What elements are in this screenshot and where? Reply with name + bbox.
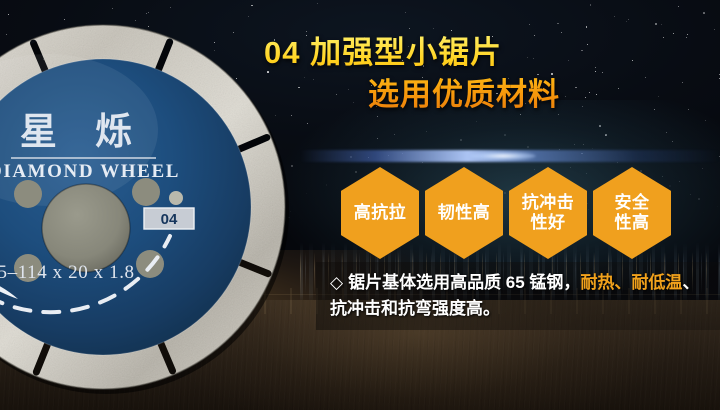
star [703,12,705,14]
headline-line-1: 04 加强型小锯片 [250,32,670,74]
star [682,82,683,83]
star [409,28,410,29]
feature-label: 安全 性高 [615,193,650,233]
lens-flare-core [470,152,536,160]
small-hole [169,191,183,205]
pin-hole [132,178,160,206]
blade-brand-cn: 星 烁 [20,111,146,152]
pin-hole [14,180,42,208]
feature-high-tensile[interactable]: 高抗拉 [341,167,419,259]
description-text: ◇锯片基体选用高品质 65 锰钢，耐热、耐低温、抗冲击和抗弯强度高。 [330,270,714,322]
star [686,37,687,38]
star [655,23,657,25]
headline: 04 加强型小锯片 选用优质材料 [250,32,670,116]
feature-high-safety[interactable]: 安全 性高 [593,167,671,259]
feature-label: 高抗拉 [354,203,407,223]
description-highlight-2: 耐低温 [631,273,682,292]
star [628,19,629,20]
feature-label: 抗冲击 性好 [522,193,575,233]
blade-brand-en: DIAMOND WHEEL [0,161,180,182]
star [614,16,615,17]
description-highlight-1: 耐热、 [580,273,631,292]
star [626,21,627,22]
feature-impact-resistant[interactable]: 抗冲击 性好 [509,167,587,259]
feature-high-toughness[interactable]: 韧性高 [425,167,503,259]
star [433,28,434,29]
star [673,33,674,34]
headline-line-2: 选用优质材料 [250,74,670,116]
star [112,8,113,9]
star [687,34,688,35]
star [661,24,662,25]
diamond-bullet-icon: ◇ [330,273,343,292]
star [317,3,318,4]
feature-badges: 高抗拉 韧性高 抗冲击 性好 安全 性高 [341,167,711,263]
star [170,7,171,8]
feature-label: 韧性高 [438,203,491,223]
star [529,24,530,25]
star [405,12,406,13]
star [714,29,715,30]
description-part-1: 锯片基体选用高品质 65 锰钢， [348,273,580,292]
blade-spec: 105–114 x 20 x 1.8 [0,262,135,283]
star [251,5,253,7]
blade-number-badge: 04 [144,208,194,229]
star [557,23,559,25]
blade-number-text: 04 [161,211,178,228]
star [590,4,592,6]
star [678,6,679,7]
star [586,26,588,28]
promo-banner: 星 烁 DIAMOND WHEEL CL 105–114 x 20 x 1.8 … [0,0,720,410]
